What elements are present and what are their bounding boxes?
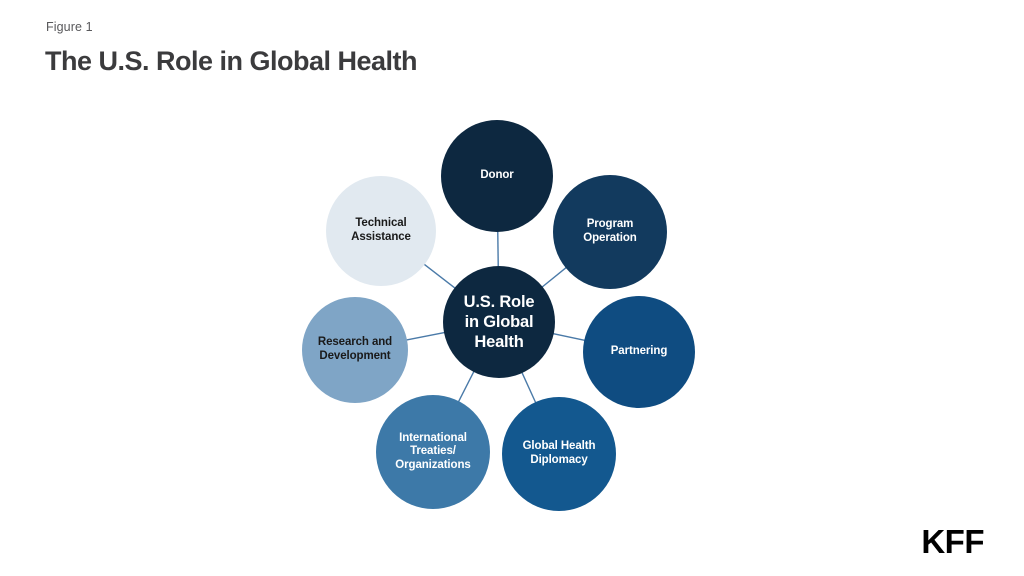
node-global-health-diplomacy[interactable]: Global Health Diplomacy <box>502 397 616 511</box>
node-label-program-operation: Program Operation <box>579 218 640 245</box>
connector-international-treaties-organizations <box>458 371 474 402</box>
node-donor[interactable]: Donor <box>441 120 553 232</box>
slide-canvas: Figure 1 The U.S. Role in Global Health … <box>0 0 1024 576</box>
node-label-partnering: Partnering <box>607 345 672 359</box>
hub-node-hub[interactable]: U.S. Role in Global Health <box>443 266 555 378</box>
node-technical-assistance[interactable]: Technical Assistance <box>326 176 436 286</box>
node-research-and-development[interactable]: Research and Development <box>302 297 408 403</box>
node-label-international-treaties-organizations: International Treaties/ Organizations <box>391 432 474 473</box>
node-label-technical-assistance: Technical Assistance <box>347 217 415 244</box>
node-partnering[interactable]: Partnering <box>583 296 695 408</box>
node-label-donor: Donor <box>476 169 517 183</box>
connector-technical-assistance <box>424 264 456 288</box>
node-label-hub: U.S. Role in Global Health <box>460 292 539 352</box>
kff-logo: KFF <box>921 525 984 558</box>
connector-global-health-diplomacy <box>522 372 536 403</box>
node-program-operation[interactable]: Program Operation <box>553 175 667 289</box>
connector-program-operation <box>542 267 567 287</box>
connector-partnering <box>553 334 585 341</box>
node-label-global-health-diplomacy: Global Health Diplomacy <box>519 440 600 467</box>
node-international-treaties-organizations[interactable]: International Treaties/ Organizations <box>376 395 490 509</box>
node-label-research-and-development: Research and Development <box>314 336 396 363</box>
connector-research-and-development <box>406 332 445 340</box>
hub-and-spoke-diagram: DonorProgram OperationPartneringGlobal H… <box>0 0 1024 576</box>
